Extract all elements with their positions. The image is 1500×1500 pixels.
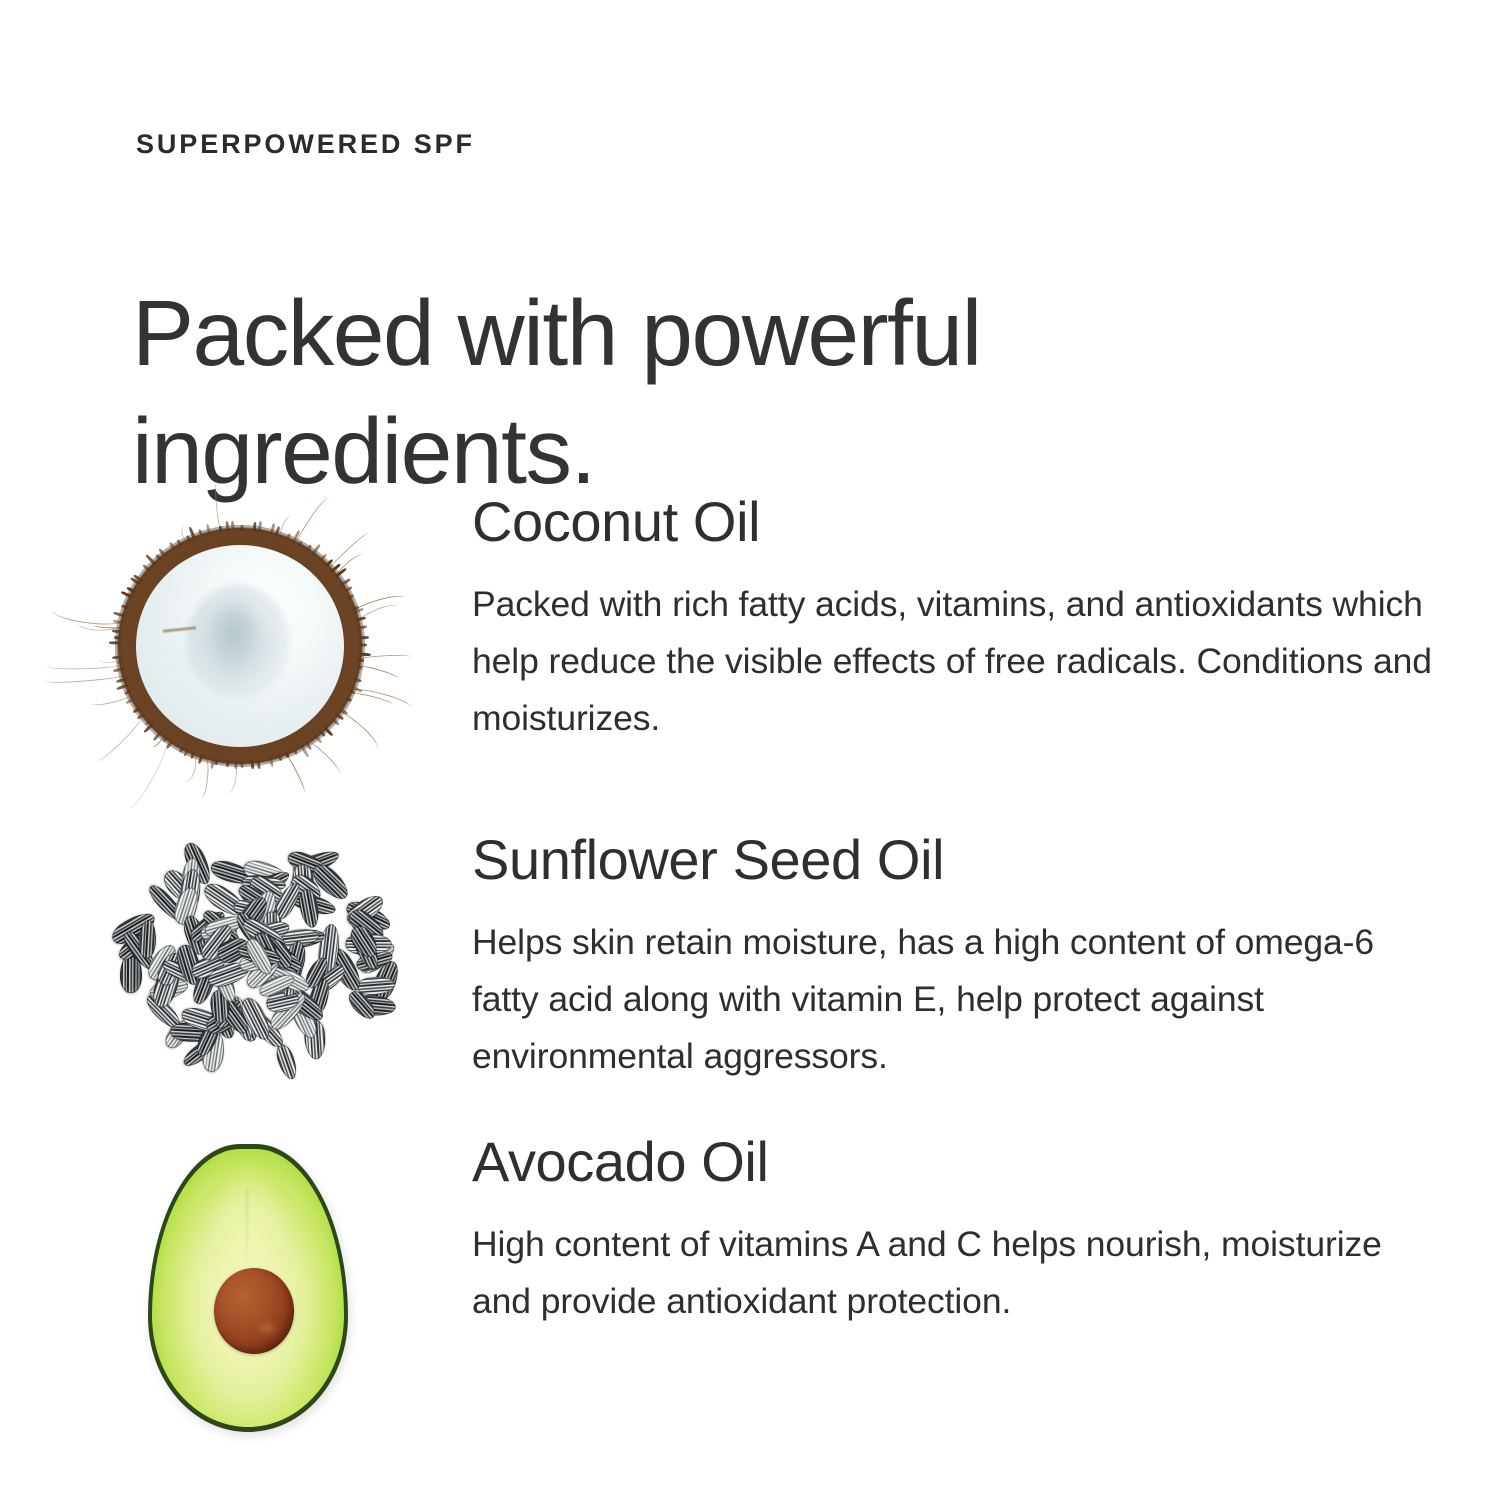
ingredient-title-avocado-oil: Avocado Oil: [472, 1130, 1452, 1194]
ingredient-description-avocado-oil: High content of vitamins A and C helps n…: [472, 1216, 1447, 1330]
ingredient-title-coconut-oil: Coconut Oil: [472, 490, 1452, 554]
sunflower-copy-block: Sunflower Seed Oil Helps skin retain moi…: [472, 828, 1452, 1085]
ingredients-page: SUPERPOWERED SPF Packed with powerful in…: [0, 0, 1500, 1500]
avocado-pit-highlight: [256, 1321, 278, 1335]
coconut-husk-tick: [357, 625, 367, 629]
coconut-husk-tick: [240, 761, 243, 768]
sunflower-seeds-illustration: [118, 836, 398, 1076]
ingredient-description-sunflower-seed-oil: Helps skin retain moisture, has a high c…: [472, 914, 1447, 1085]
ingredient-title-sunflower-seed-oil: Sunflower Seed Oil: [472, 828, 1452, 892]
coconut-husk-tick: [250, 760, 254, 770]
eyebrow-label: SUPERPOWERED SPF: [136, 131, 475, 158]
avocado-pit: [214, 1268, 294, 1354]
sunflower-seed: [273, 1043, 300, 1082]
coconut-husk-tick: [240, 525, 243, 531]
avocado-seam-line: [246, 1188, 248, 1271]
coconut-husk-tick: [114, 636, 122, 640]
sunflower-seeds-image: [100, 828, 420, 1128]
coconut-copy-block: Coconut Oil Packed with rich fatty acids…: [472, 490, 1452, 747]
avocado-half-image: [100, 1130, 420, 1430]
ingredient-description-coconut-oil: Packed with rich fatty acids, vitamins, …: [472, 576, 1447, 747]
coconut-husk-tick: [116, 660, 122, 664]
coconut-half-image: [100, 490, 420, 790]
coconut-fiber-hair: [44, 671, 127, 685]
coconut-illustration: [118, 528, 362, 764]
coconut-cavity-core: [207, 606, 261, 675]
avocado-illustration: [148, 1144, 348, 1432]
avocado-copy-block: Avocado Oil High content of vitamins A a…: [472, 1130, 1452, 1330]
coconut-husk-tick: [231, 521, 235, 531]
coconut-husk-tick: [225, 521, 229, 532]
page-title: Packed with powerful ingredients.: [132, 274, 1132, 510]
coconut-flesh: [136, 545, 344, 747]
